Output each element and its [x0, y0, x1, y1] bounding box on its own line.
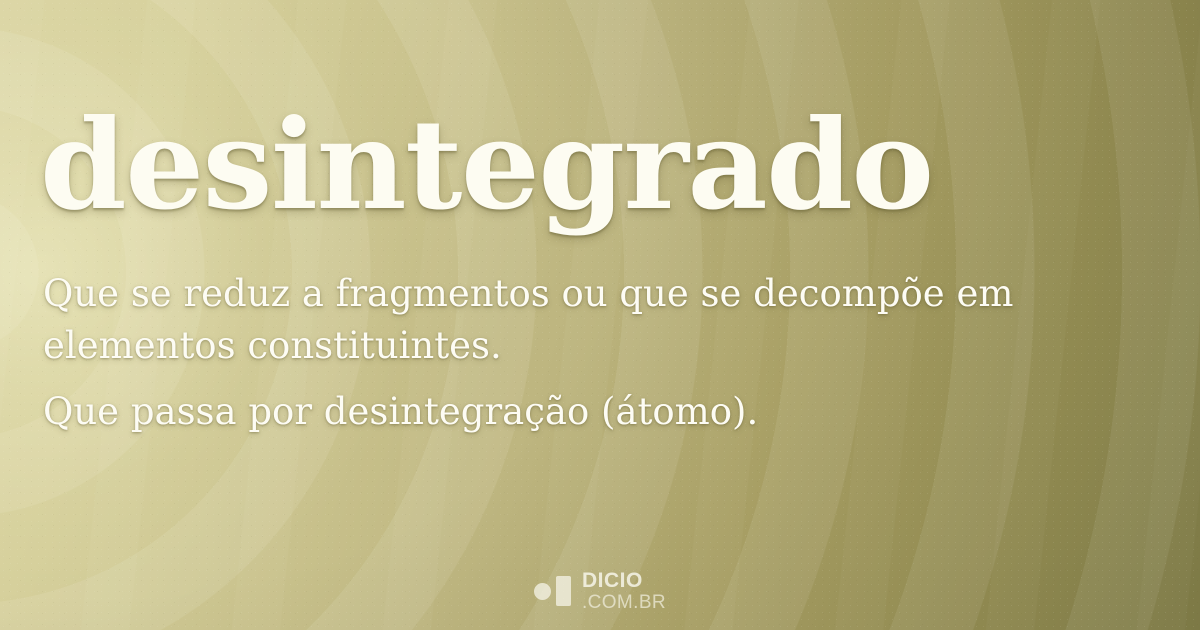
logo-wordmark: DICIO .COM.BR: [582, 570, 666, 612]
definition-item: Que se reduz a fragmentos ou que se deco…: [43, 268, 1140, 372]
card-content: desintegrado Que se reduz a fragmentos o…: [0, 0, 1200, 630]
logo-bar-icon: [556, 576, 571, 606]
logo-circle-icon: [534, 583, 551, 600]
definition-item: Que passa por desintegração (átomo).: [43, 386, 1140, 438]
site-logo[interactable]: DICIO .COM.BR: [0, 570, 1200, 612]
logo-mark-icon: [534, 576, 571, 606]
logo-name-label: DICIO: [582, 570, 666, 591]
dictionary-share-card: desintegrado Que se reduz a fragmentos o…: [0, 0, 1200, 630]
headword-title: desintegrado: [40, 99, 933, 233]
logo-tld-label: .COM.BR: [582, 593, 666, 612]
definitions-list: Que se reduz a fragmentos ou que se deco…: [43, 268, 1140, 438]
